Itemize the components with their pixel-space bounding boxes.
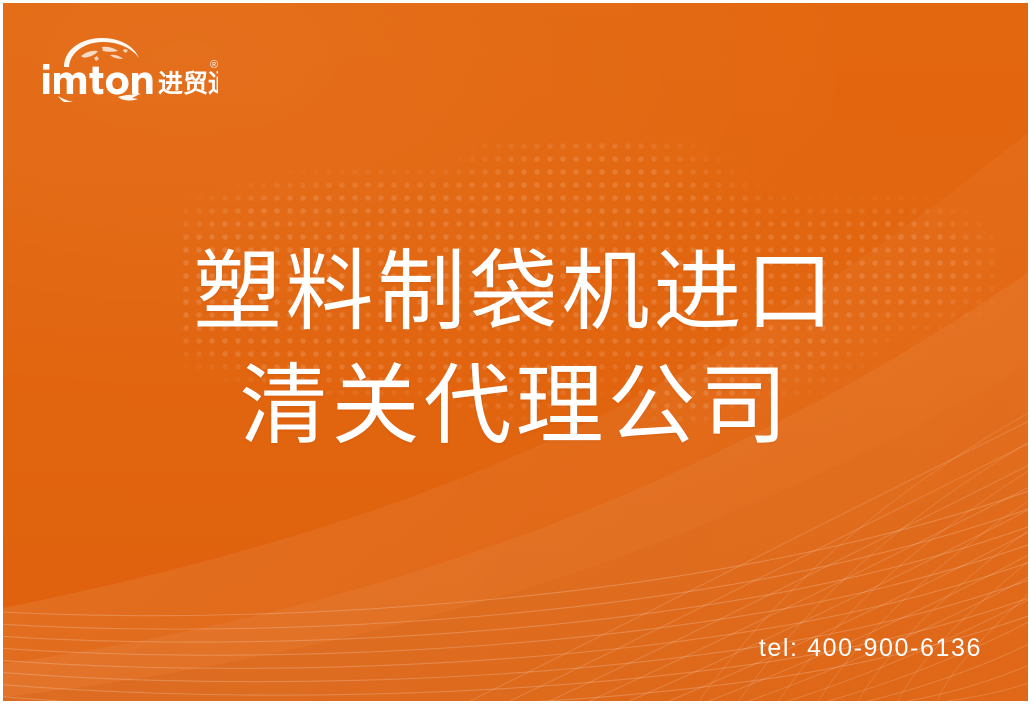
contact-phone[interactable]: tel: 400-900-6136: [759, 634, 982, 663]
page-title: 塑料制袋机进口 清关代理公司: [3, 235, 1028, 463]
promo-banner: 进贸通 ® 塑料制袋机进口 清关代理公司 tel: 400-900-6136: [0, 0, 1031, 704]
headline-line-1: 塑料制袋机进口: [3, 235, 1028, 349]
headline-line-2: 清关代理公司: [3, 349, 1028, 463]
imton-logo[interactable]: 进贸通 ®: [40, 34, 218, 102]
logo-chinese-name: 进贸通: [158, 70, 218, 98]
trademark-symbol: ®: [210, 59, 218, 71]
